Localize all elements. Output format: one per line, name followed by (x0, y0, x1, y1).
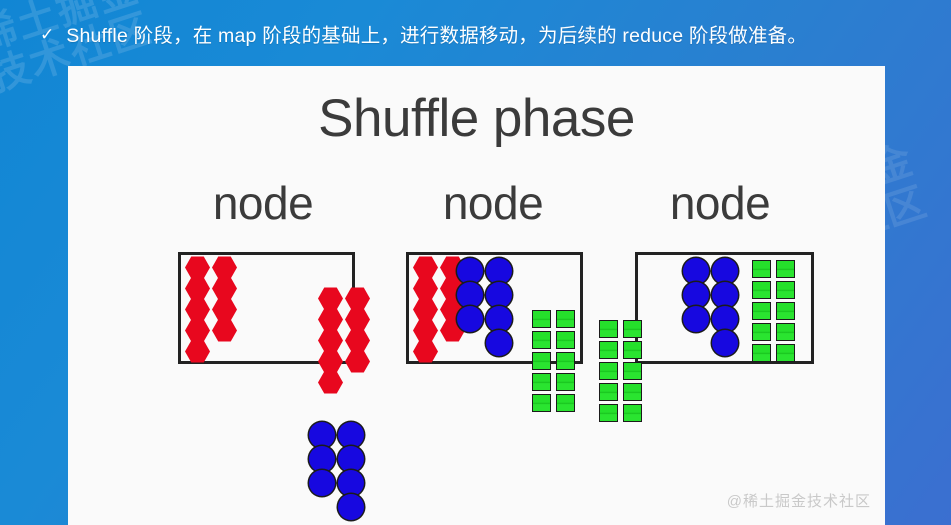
hexagon-shape (413, 319, 438, 342)
square-shape (623, 404, 642, 422)
circle-shape (457, 258, 483, 284)
circle-shape (309, 422, 335, 448)
cluster-column (185, 257, 210, 362)
hexagon-shape (212, 298, 237, 321)
square-shape (776, 281, 795, 299)
square-shape (752, 281, 771, 299)
circle-shape (309, 470, 335, 496)
circle-shape (338, 494, 364, 520)
square-shape (556, 331, 575, 349)
cluster-column (457, 259, 483, 355)
circle-shape (712, 258, 738, 284)
hexagon-shape (212, 319, 237, 342)
node-label-1: node (173, 176, 353, 230)
diagram-panel: Shuffle phase node node node @稀土掘金技术社区 (68, 66, 885, 525)
hexagon-shape (185, 256, 210, 279)
square-shape (776, 302, 795, 320)
hexagon-shape (185, 340, 210, 363)
square-shape (599, 341, 618, 359)
square-shape (752, 260, 771, 278)
circle-shape (712, 330, 738, 356)
hexagon-shape (413, 340, 438, 363)
cluster-node2-blue-inside (457, 259, 512, 355)
square-shape (752, 344, 771, 362)
hexagon-shape (318, 287, 343, 310)
cluster-column (486, 259, 512, 355)
cluster-column (309, 423, 335, 519)
hexagon-shape (318, 371, 343, 394)
cluster-column (318, 288, 343, 393)
cluster-node2-green-edge (532, 308, 575, 413)
circle-shape (683, 306, 709, 332)
square-shape (556, 352, 575, 370)
cluster-column (532, 308, 551, 413)
circle-shape (486, 282, 512, 308)
circle-shape (457, 306, 483, 332)
square-shape (776, 323, 795, 341)
node-labels-row: node node node (68, 176, 885, 236)
node-label-3: node (630, 176, 810, 230)
square-shape (599, 362, 618, 380)
cluster-column (599, 318, 618, 423)
cluster-node1-red-edge (318, 288, 370, 393)
cluster-column (752, 258, 771, 363)
circle-shape (338, 422, 364, 448)
hexagon-shape (185, 319, 210, 342)
diagram-title: Shuffle phase (68, 88, 885, 149)
hexagon-shape (345, 308, 370, 331)
square-shape (599, 383, 618, 401)
cluster-node1-red-inside (185, 257, 237, 362)
circle-shape (712, 306, 738, 332)
slide-header: ✓ Shuffle 阶段，在 map 阶段的基础上，进行数据移动，为后续的 re… (0, 0, 951, 66)
cluster-column (776, 258, 795, 363)
cluster-column (338, 423, 364, 519)
panel-watermark: @稀土掘金技术社区 (727, 490, 871, 511)
square-shape (532, 373, 551, 391)
hexagon-shape (318, 350, 343, 373)
square-shape (556, 310, 575, 328)
circle-shape (486, 306, 512, 332)
cluster-node3-blue-inside (683, 259, 738, 355)
circle-shape (338, 446, 364, 472)
square-shape (623, 383, 642, 401)
cluster-column (623, 318, 642, 423)
square-shape (623, 320, 642, 338)
square-shape (776, 260, 795, 278)
circle-shape (309, 446, 335, 472)
square-shape (532, 352, 551, 370)
circle-shape (712, 282, 738, 308)
slide-canvas: 稀土掘金 技术社区 稀土掘金 技术社区 ✓ Shuffle 阶段，在 map 阶… (0, 0, 951, 525)
cluster-column (683, 259, 709, 355)
hexagon-shape (413, 298, 438, 321)
circle-shape (338, 470, 364, 496)
cluster-node3-green-inside (752, 258, 795, 363)
cluster-column (413, 257, 438, 362)
square-shape (599, 404, 618, 422)
hexagon-shape (185, 298, 210, 321)
node-label-2: node (403, 176, 583, 230)
circle-shape (457, 282, 483, 308)
square-shape (752, 302, 771, 320)
square-shape (623, 362, 642, 380)
circle-shape (683, 282, 709, 308)
hexagon-shape (318, 329, 343, 352)
hexagon-shape (413, 256, 438, 279)
circle-shape (486, 330, 512, 356)
square-shape (532, 310, 551, 328)
cluster-node3-green-left (599, 318, 642, 423)
square-shape (556, 373, 575, 391)
hexagon-shape (212, 277, 237, 300)
square-shape (599, 320, 618, 338)
cluster-column (556, 308, 575, 413)
header-bullet-text: Shuffle 阶段，在 map 阶段的基础上，进行数据移动，为后续的 redu… (66, 19, 807, 48)
circle-shape (683, 258, 709, 284)
hexagon-shape (212, 256, 237, 279)
check-icon: ✓ (40, 26, 54, 43)
cluster-node1-blue-below (309, 423, 364, 519)
circle-shape (486, 258, 512, 284)
hexagon-shape (345, 287, 370, 310)
square-shape (532, 394, 551, 412)
hexagon-shape (413, 277, 438, 300)
square-shape (752, 323, 771, 341)
hexagon-shape (185, 277, 210, 300)
hexagon-shape (318, 308, 343, 331)
cluster-column (212, 257, 237, 362)
hexagon-shape (345, 350, 370, 373)
cluster-column (712, 259, 738, 355)
hexagon-shape (345, 329, 370, 352)
square-shape (532, 331, 551, 349)
square-shape (776, 344, 795, 362)
square-shape (623, 341, 642, 359)
cluster-column (345, 288, 370, 393)
square-shape (556, 394, 575, 412)
